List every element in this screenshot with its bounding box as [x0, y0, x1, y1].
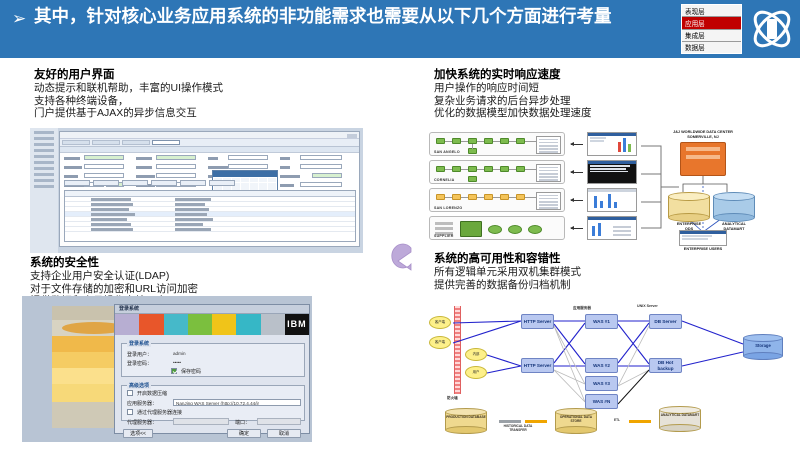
ibm-logo: IBM [285, 314, 309, 335]
username-field[interactable]: admin [171, 350, 251, 357]
section-security-line-2: 对于文件存储的加密和URL访问加密 [30, 283, 198, 296]
storage-label: Storage [743, 343, 783, 348]
screenshot-sidebar [30, 128, 58, 253]
dialog-titlebar: 登录系统 [115, 305, 309, 314]
advanced-group-title: 高级选项 [127, 382, 151, 389]
report-thumbnail [587, 160, 637, 184]
operational-data-store-label: OPERATIONAL DATA STORE [555, 415, 597, 423]
site-row-supplier: SUPPLIER [429, 216, 565, 240]
site-label: CORNELIA [434, 178, 454, 182]
etl-arrow [629, 420, 651, 423]
section-performance-line-3: 优化的数据模型加快数据处理速度 [434, 107, 592, 120]
report-thumbnail [587, 188, 637, 212]
datacenter-diagram: SAN ANGELO CORNELIA SAN LORENZO [425, 130, 780, 252]
flow-arrow [571, 172, 583, 173]
layer-legend: 表现层 应用层 集成层 数据层 [681, 4, 742, 54]
app-server-field[interactable]: NanJing WAS Server (http://10.72.4.44/ir [173, 399, 301, 406]
section-performance-title: 加快系统的实时响应速度 [434, 68, 592, 82]
compress-checkbox[interactable] [127, 390, 133, 396]
lock-icon [188, 314, 212, 335]
ha-topology-diagram: 防火墙 客户端 客户端 内部 用户 应用服务器 UNIX Server [425, 296, 795, 448]
operational-data-store: OPERATIONAL DATA STORE [555, 408, 597, 434]
historical-transfer-label: HISTORICAL DATA TRANSFER [495, 424, 541, 432]
slide-header: ➢ 其中，针对核心业务应用系统的非功能需求也需要从以下几个方面进行考量 表现层 … [0, 0, 800, 58]
legend-label: 表现层 [685, 6, 705, 16]
http-server-1-label: HTTP Server [524, 319, 552, 324]
arrow-icon [212, 314, 236, 335]
legend-item-integration[interactable]: 集成层 [682, 30, 741, 42]
screenshot-tabs [60, 139, 359, 147]
username-label: 登录用户： [127, 351, 152, 358]
datacenter-title-line-1: J&J WORLDWIDE DATA CENTER [673, 130, 733, 134]
slide-root: ➢ 其中，针对核心业务应用系统的非功能需求也需要从以下几个方面进行考量 表现层 … [0, 0, 800, 450]
section-ui-text: 友好的用户界面 动态提示和联机帮助，丰富的UI操作模式 支持各种终端设备， 门户… [34, 68, 223, 120]
etl-label: ETL [607, 418, 627, 422]
analytical-datamart-db: ANALYTICAL DATAMART [659, 406, 701, 432]
flow-arrow [571, 144, 583, 145]
save-password-checkbox[interactable] [171, 368, 177, 374]
banner-swatch-7 [261, 314, 285, 335]
screenshot-action-buttons[interactable] [64, 180, 235, 186]
grid-row[interactable] [65, 227, 355, 232]
http-server-2: HTTP Server [521, 358, 554, 373]
legend-item-presentation[interactable]: 表现层 [682, 5, 741, 17]
screenshot-data-grid[interactable] [64, 190, 356, 242]
compress-label: 开启数据压缩 [137, 390, 167, 397]
analytical-datamart-db-label: ANALYTICAL DATAMART [659, 413, 701, 417]
was-node-3: WAS #3 [585, 376, 618, 391]
site-report-thumb [536, 192, 561, 210]
legend-item-data[interactable]: 数据层 [682, 42, 741, 53]
legend-label: 数据层 [685, 42, 705, 52]
proxy-server-label: 代理服务器： [127, 419, 157, 426]
db-hot-backup-node: DB Hot backup [649, 358, 682, 373]
options-button[interactable]: 选项<< [123, 429, 153, 438]
section-security-line-1: 支持企业用户安全认证(LDAP) [30, 270, 198, 283]
clock-icon [236, 314, 260, 335]
db-hot-backup-label: DB Hot backup [650, 360, 681, 370]
datacenter-title: J&J WORLDWIDE DATA CENTER SOMERVILLE, NJ [665, 130, 741, 140]
site-row-san-angelo: SAN ANGELO [429, 132, 565, 156]
page-title: 其中，针对核心业务应用系统的非功能需求也需要从以下几个方面进行考量 [34, 5, 644, 28]
site-row-cornelia: CORNELIA [429, 160, 565, 184]
section-performance-line-1: 用户操作的响应时间短 [434, 82, 592, 95]
login-dialog-window[interactable]: 登录系统 IBM 登录系统 登录用户： admin 登录密码： ••••• 保存… [114, 304, 310, 434]
was-node-1: WAS #1 [585, 314, 618, 329]
datacenter-title-line-2: SOMERVILLE, NJ [687, 135, 719, 139]
section-performance-line-2: 复杂业务请求的后台异步处理 [434, 95, 592, 108]
screenshot-titlebar [60, 132, 359, 139]
site-label: SAN ANGELO [434, 150, 460, 154]
enterprise-users-label: ENTERPRISE USERS [669, 247, 737, 252]
password-field[interactable]: ••••• [171, 359, 251, 366]
proxy-server-field[interactable] [173, 418, 229, 425]
app-server-label: 应用服务器： [127, 400, 157, 407]
historical-transfer-arrow-left [499, 420, 521, 423]
ok-button[interactable]: 确定 [227, 429, 261, 438]
enterprise-users-thumb [679, 230, 727, 246]
site-report-thumb [536, 136, 561, 154]
section-ui-line-2: 支持各种终端设备， [34, 95, 223, 108]
section-security-title: 系统的安全性 [30, 256, 198, 270]
rotate-arrow-icon [385, 236, 421, 276]
section-performance-text: 加快系统的实时响应速度 用户操作的响应时间短 复杂业务请求的后台异步处理 优化的… [434, 68, 592, 120]
cancel-button[interactable]: 取消 [267, 429, 301, 438]
section-availability-text: 系统的高可用性和容错性 所有逻辑单元采用双机集群模式 提供完善的数据备份归档机制 [434, 252, 581, 291]
db-server-label: DB Server [654, 319, 676, 324]
banner-swatch-1 [115, 314, 139, 335]
port-field[interactable] [257, 418, 301, 425]
site-label: SUPPLIER [434, 234, 454, 238]
site-row-san-lorenzo: SAN LORENZO [429, 188, 565, 212]
http-server-1: HTTP Server [521, 314, 554, 329]
login-dialog-screenshot: 登录系统 IBM 登录系统 登录用户： admin 登录密码： ••••• 保存… [22, 296, 312, 442]
dialog-banner: IBM [115, 314, 309, 335]
site-report-thumb [536, 164, 561, 182]
datamart-label-line-1: ANALYTICAL [722, 222, 746, 226]
banner-swatch-2 [139, 314, 163, 335]
password-label: 登录密码： [127, 360, 152, 367]
section-availability-line-1: 所有逻辑单元采用双机集群模式 [434, 266, 581, 279]
storage-node: Storage [743, 334, 783, 360]
ui-application-screenshot [30, 128, 363, 253]
site-label: SAN LORENZO [434, 206, 462, 210]
section-availability-title: 系统的高可用性和容错性 [434, 252, 581, 266]
save-password-label: 保存密码 [181, 368, 201, 375]
production-database: PRODUCTION DATABASE [445, 408, 487, 434]
was-node-n: WAS #N [585, 394, 618, 409]
section-ui-line-3: 门户提供基于AJAX的异步信息交互 [34, 107, 223, 120]
port-label: 端口： [235, 419, 250, 426]
flow-arrow [571, 200, 583, 201]
production-database-label: PRODUCTION DATABASE [445, 415, 487, 419]
historical-transfer-arrow-right [525, 420, 547, 423]
background-photo [52, 306, 116, 426]
bullet-icon: ➢ [12, 10, 26, 27]
legend-item-application[interactable]: 应用层 [682, 17, 741, 29]
legend-label: 应用层 [685, 18, 705, 28]
enterprise-ods-cylinder [668, 192, 710, 222]
report-thumbnail [587, 216, 637, 240]
db-server-node: DB Server [649, 314, 682, 329]
flow-arrow [571, 228, 583, 229]
ods-label-line-1: ENTERPRISE [677, 222, 701, 226]
analytical-datamart-cylinder [713, 192, 755, 222]
atom-logo-icon [748, 3, 796, 55]
report-thumbnail [587, 132, 637, 156]
was-node-2: WAS #2 [585, 358, 618, 373]
login-group-title: 登录系统 [127, 340, 151, 347]
proxy-label: 通过代理服务器连接 [137, 409, 182, 416]
http-server-2-label: HTTP Server [524, 363, 552, 368]
datacenter-server-icon [680, 142, 726, 176]
proxy-checkbox[interactable] [127, 409, 133, 415]
banner-swatch-3 [164, 314, 188, 335]
section-ui-title: 友好的用户界面 [34, 68, 223, 82]
section-availability-line-2: 提供完善的数据备份归档机制 [434, 279, 581, 292]
section-ui-line-1: 动态提示和联机帮助，丰富的UI操作模式 [34, 82, 223, 95]
screenshot-window [59, 131, 360, 247]
legend-label: 集成层 [685, 30, 705, 40]
